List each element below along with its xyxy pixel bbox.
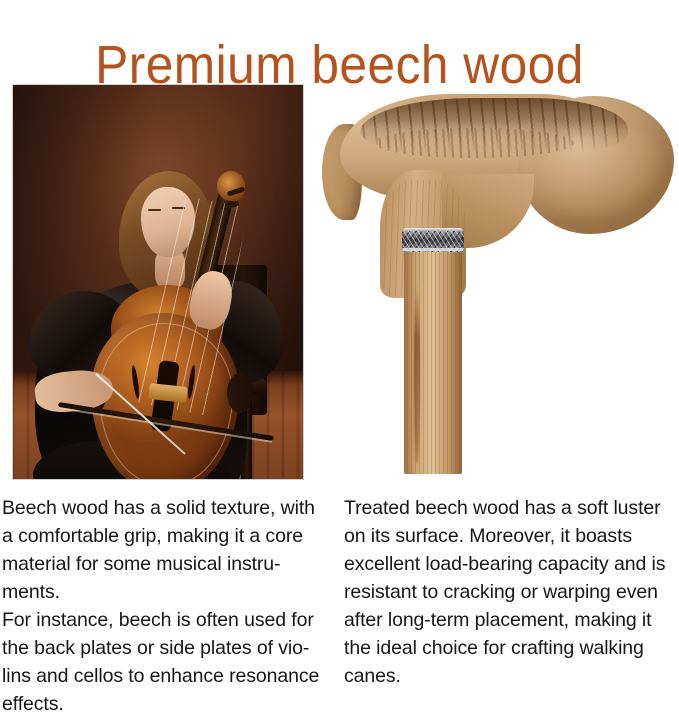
cane-handle (322, 88, 676, 300)
left-description-column: Beech wood has a solid texture, with a c… (2, 494, 320, 718)
right-paragraph-1: Treated beech wood has a soft luster on … (344, 494, 676, 690)
left-paragraph-1: Beech wood has a solid texture, with a c… (2, 494, 320, 606)
right-description-column: Treated beech wood has a soft luster on … (344, 494, 676, 690)
wood-grain-striations-secondary (374, 128, 574, 158)
cello-waist-right (227, 373, 253, 413)
walking-cane-photo (318, 84, 679, 480)
cane-shaft (404, 252, 462, 474)
silver-collar-band (402, 228, 464, 254)
eye-left (148, 209, 161, 211)
cellist-photo (12, 84, 304, 480)
left-paragraph-2: For instance, beech is often used for th… (2, 606, 320, 718)
shaft-grain-streak (414, 284, 420, 464)
